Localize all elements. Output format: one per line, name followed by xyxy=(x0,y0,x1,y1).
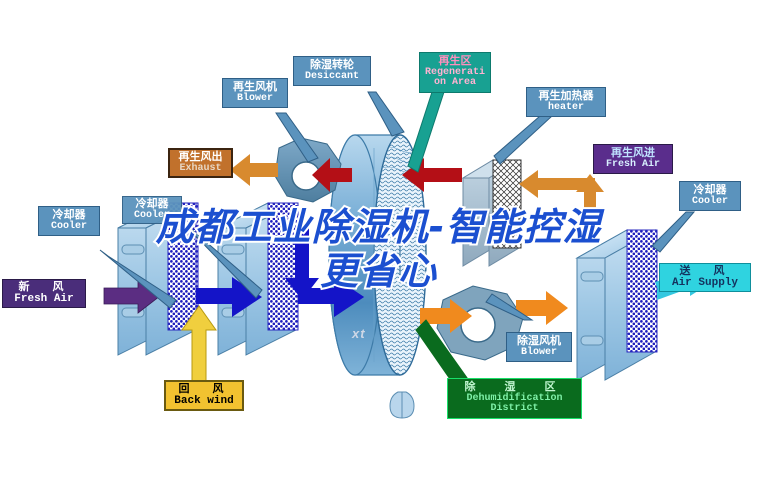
label-regen-blower-en: Blower xyxy=(227,94,283,105)
dehumidifier-schematic xyxy=(0,0,757,488)
label-dehum-blower-en: Blower xyxy=(511,348,567,359)
label-dehum-blower-cn: 除湿风机 xyxy=(511,336,567,348)
label-cooler-left-1-en: Cooler xyxy=(43,222,95,233)
label-regeneration-area: 再生区 Regenerati on Area xyxy=(419,52,491,93)
label-dehum-cn: 除 湿 区 xyxy=(451,382,578,394)
diagram-canvas: 除湿转轮 Desiccant 再生风机 Blower 再生区 Regenerat… xyxy=(0,0,757,488)
label-air-supply: 送 风 Air Supply xyxy=(659,263,751,292)
label-regen-area-cn: 再生区 xyxy=(423,56,487,68)
label-cooler-right-cn: 冷却器 xyxy=(684,185,736,197)
label-exhaust-en: Exhaust xyxy=(173,164,228,175)
label-cooler-left-1-cn: 冷却器 xyxy=(43,210,95,222)
arrow-exhaust xyxy=(230,154,278,186)
label-heater-cn: 再生加热器 xyxy=(531,91,601,103)
label-desiccant-cn: 除湿转轮 xyxy=(298,60,366,72)
label-back-wind-en: Back wind xyxy=(169,396,239,408)
label-regen-area-en-2: on Area xyxy=(423,78,487,89)
label-cooler-left-1: 冷却器 Cooler xyxy=(38,206,100,236)
label-regen-blower: 再生风机 Blower xyxy=(222,78,288,108)
label-fresh-air: 新 风 Fresh Air xyxy=(2,279,86,308)
label-dehum-en-2: District xyxy=(451,404,578,415)
label-cooler-left-2-cn: 冷却器 xyxy=(127,199,177,211)
label-exhaust: 再生风出 Exhaust xyxy=(168,148,233,178)
label-fresh-air-cn: 新 风 xyxy=(6,282,82,294)
label-desiccant-en: Desiccant xyxy=(298,72,366,83)
label-back-wind-cn: 回 风 xyxy=(169,384,239,396)
cooler-unit-right xyxy=(577,230,657,380)
label-dehumidification-district: 除 湿 区 Dehumidification District xyxy=(447,378,582,419)
label-back-wind: 回 风 Back wind xyxy=(164,380,244,411)
label-cooler-left-2-en: Cooler xyxy=(127,211,177,222)
label-heater-en: heater xyxy=(531,103,601,114)
label-exhaust-cn: 再生风出 xyxy=(173,152,228,164)
label-regen-heater: 再生加热器 heater xyxy=(526,87,606,117)
label-regen-blower-cn: 再生风机 xyxy=(227,82,283,94)
label-cooler-left-2: 冷却器 Cooler xyxy=(122,196,182,224)
label-desiccant: 除湿转轮 Desiccant xyxy=(293,56,371,86)
label-regen-fresh-en: Fresh Air xyxy=(597,160,669,171)
label-air-supply-cn: 送 风 xyxy=(663,266,747,278)
regeneration-heater-unit xyxy=(463,160,521,266)
label-air-supply-en: Air Supply xyxy=(663,278,747,290)
watermark-text: xt xyxy=(352,326,366,341)
label-cooler-right-en: Cooler xyxy=(684,197,736,208)
label-regen-fresh-cn: 再生风进 xyxy=(597,148,669,160)
label-fresh-air-en: Fresh Air xyxy=(6,294,82,306)
label-cooler-right: 冷却器 Cooler xyxy=(679,181,741,211)
label-regen-fresh-air: 再生风进 Fresh Air xyxy=(593,144,673,174)
label-dehum-blower: 除湿风机 Blower xyxy=(506,332,572,362)
